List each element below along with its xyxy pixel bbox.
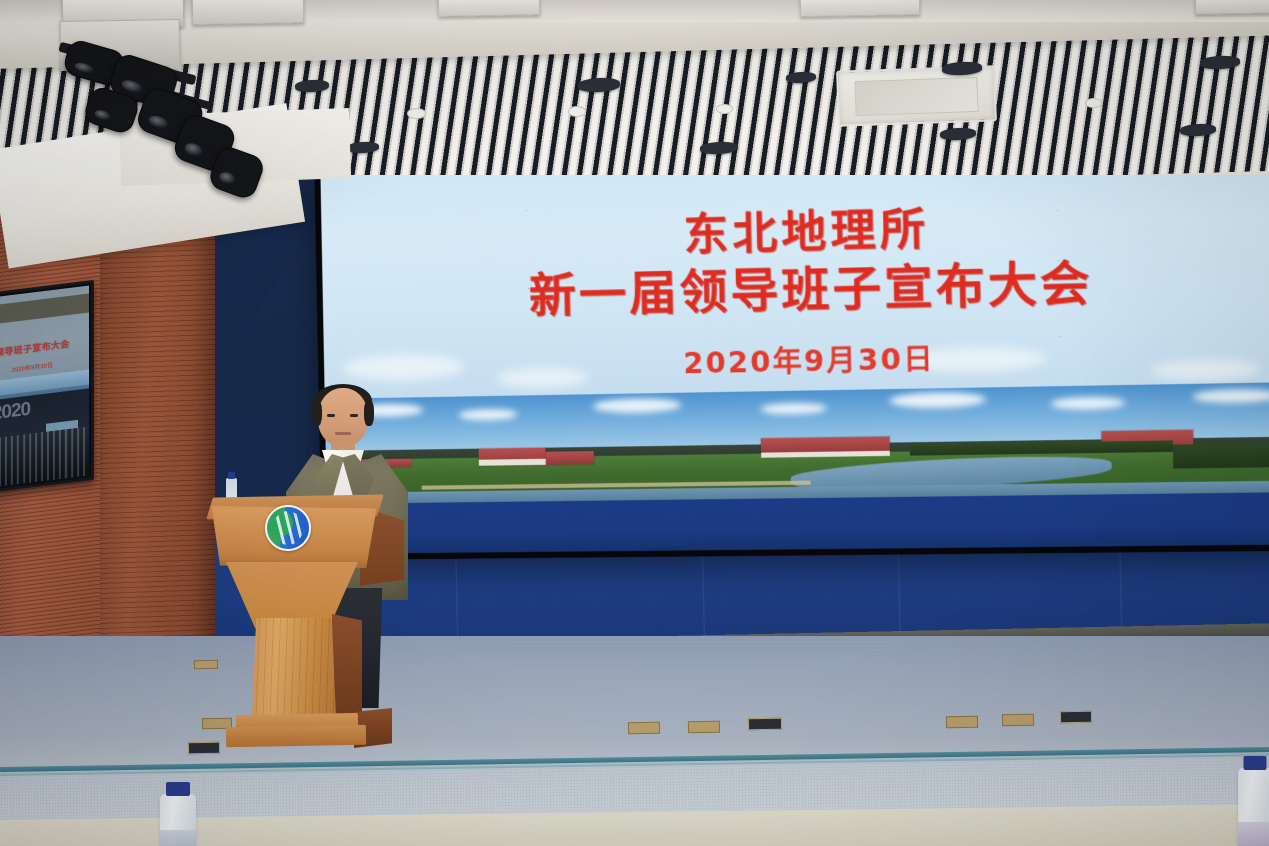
led-screen-surface: 东北地理所 新一届领导班子宣布大会 2020年9月30日 [320,137,1269,554]
ceiling-top-strip [0,0,1269,22]
photo-scene: 东北地理所 新一届领导班子宣布大会 2020年9月30日 [0,0,1269,846]
floor-socket [946,716,978,729]
slide-title-block: 东北地理所 新一届领导班子宣布大会 2020年9月30日 [321,194,1269,389]
floor-socket [1060,711,1092,724]
ceiling-ac-vent [836,65,997,127]
speaker-podium [208,492,393,754]
floor-socket [748,718,782,731]
foreground-water-bottle-right [1238,768,1269,846]
slide-campus-photo [325,381,1269,503]
floor-socket [1002,714,1034,727]
wall-monitor: 领导班子宣布大会 2020年9月30日 2020 [0,280,94,492]
floor-socket [688,721,720,734]
speaker-head [318,388,368,446]
foreground-water-bottle-left [160,794,196,846]
led-screen: 东北地理所 新一届领导班子宣布大会 2020年9月30日 [314,131,1269,560]
floor-socket [628,722,660,735]
